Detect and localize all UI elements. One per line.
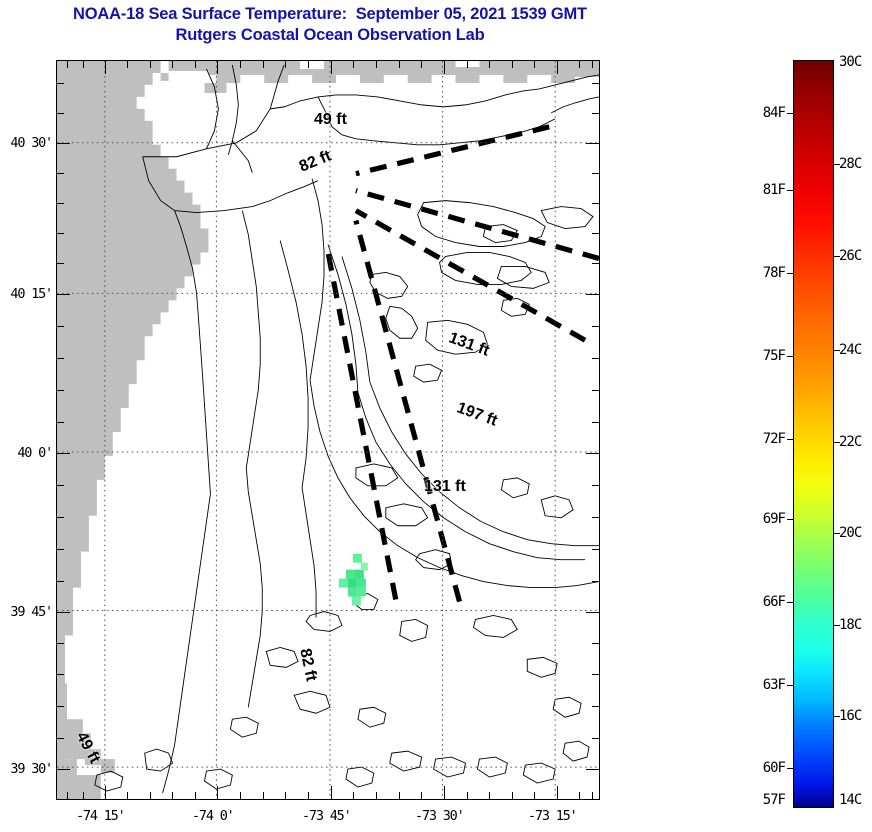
temperature-colorbar[interactable]: 84F 81F 78F 75F 72F 69F 66F 63F 60F 57F …: [793, 60, 834, 808]
cb-c-label-5: 20C: [839, 525, 861, 541]
cb-f-label-1: 81F: [741, 182, 785, 198]
cb-f-label-3: 75F: [741, 348, 785, 364]
title-line-1: NOAA-18 Sea Surface Temperature: Septemb…: [0, 4, 660, 25]
cb-c-label-2: 26C: [839, 248, 861, 264]
title-line-2: Rutgers Coastal Ocean Observation Lab: [0, 25, 660, 46]
land-mask-layer: [57, 61, 599, 799]
cb-f-label-8: 60F: [741, 760, 785, 776]
depth-label-4: 131 ft: [424, 478, 466, 496]
sst-map-plot[interactable]: 49 ft 82 ft 131 ft 197 ft 131 ft 82 ft 4…: [56, 60, 600, 800]
cb-c-label-7: 16C: [839, 708, 861, 724]
x-axis-label-1: -74 0': [192, 808, 234, 824]
cb-f-label-7: 63F: [741, 677, 785, 693]
cb-f-label-9: 57F: [741, 792, 785, 808]
x-axis-label-4: -73 15': [528, 808, 577, 824]
y-axis-label-1: 40 15': [0, 286, 52, 302]
cb-c-label-4: 22C: [839, 434, 861, 450]
y-axis-label-4: 39 30': [0, 761, 52, 777]
depth-label-0: 49 ft: [314, 111, 347, 129]
y-axis-label-2: 40 0': [0, 445, 52, 461]
cb-f-label-5: 69F: [741, 511, 785, 527]
cb-f-label-6: 66F: [741, 594, 785, 610]
map-canvas: [57, 61, 599, 799]
x-axis-label-2: -73 45': [302, 808, 351, 824]
cb-f-label-2: 78F: [741, 265, 785, 281]
y-axis-label-3: 39 45': [0, 604, 52, 620]
cb-f-label-4: 72F: [741, 431, 785, 447]
cb-c-label-8: 14C: [839, 792, 861, 808]
colorbar-gradient: [793, 60, 834, 808]
cb-f-label-0: 84F: [741, 105, 785, 121]
x-axis-label-0: -74 15': [76, 808, 125, 824]
cb-c-label-0: 30C: [839, 54, 861, 70]
y-axis-label-0: 40 30': [0, 135, 52, 151]
chart-title: NOAA-18 Sea Surface Temperature: Septemb…: [0, 4, 660, 46]
cb-c-label-6: 18C: [839, 617, 861, 633]
cb-c-label-1: 28C: [839, 156, 861, 172]
sst-data-patch-green: [339, 554, 368, 606]
cb-c-label-3: 24C: [839, 342, 861, 358]
x-axis-label-3: -73 30': [415, 808, 464, 824]
